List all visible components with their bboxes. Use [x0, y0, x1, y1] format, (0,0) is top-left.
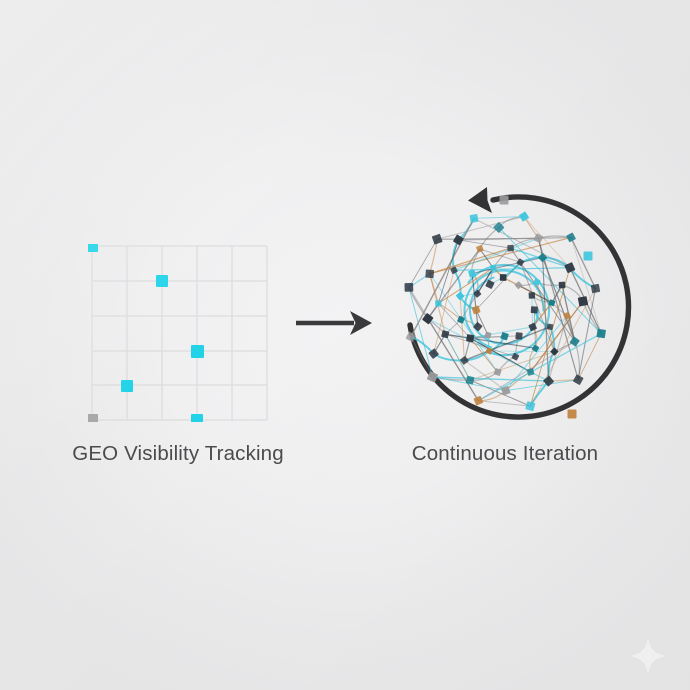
swirl-node[interactable]: [547, 323, 554, 330]
swirl-node[interactable]: [507, 245, 514, 252]
swirl-edge: [437, 217, 524, 240]
swirl-node[interactable]: [515, 332, 522, 339]
swirl-node[interactable]: [456, 292, 465, 301]
swirl-node[interactable]: [435, 300, 442, 307]
grid-marker-c2-r1[interactable]: [156, 275, 168, 287]
arc-path: [410, 197, 629, 417]
grid-marker-top-left[interactable]: [88, 244, 98, 252]
swirl-node[interactable]: [425, 269, 434, 278]
grid-marker-origin-muted[interactable]: [88, 414, 98, 422]
swirl-node[interactable]: [405, 283, 414, 292]
swirl-node[interactable]: [578, 296, 588, 306]
swirl-accent-node[interactable]: [568, 410, 577, 419]
continuous-iteration-swirl: [392, 178, 640, 430]
swirl-node[interactable]: [591, 284, 601, 294]
iteration-arc: [410, 187, 629, 417]
swirl-node[interactable]: [538, 253, 548, 263]
grid-markers: [88, 244, 204, 422]
swirl-node[interactable]: [566, 232, 576, 242]
grid-marker-c3-r3[interactable]: [191, 345, 204, 358]
caption-right: Continuous Iteration: [350, 442, 660, 466]
sparkle-shape: [629, 637, 667, 675]
geo-visibility-grid: [88, 244, 270, 422]
swirl-node[interactable]: [473, 322, 483, 332]
grid-svg: [88, 244, 270, 422]
infographic-canvas: GEO Visibility Tracking Continuous Itera…: [0, 0, 690, 690]
swirl-node[interactable]: [500, 332, 509, 341]
swirl-node[interactable]: [525, 401, 535, 411]
swirl-node[interactable]: [514, 281, 522, 289]
sparkle-icon: [624, 632, 672, 680]
swirl-node[interactable]: [596, 329, 606, 339]
swirl-accent-node[interactable]: [584, 252, 593, 261]
swirl-node[interactable]: [432, 234, 443, 245]
swirl-node[interactable]: [533, 233, 543, 243]
sparkle-watermark: [624, 632, 672, 680]
swirl-node[interactable]: [529, 292, 536, 299]
grid-marker-c1-r4[interactable]: [121, 380, 133, 392]
right-arrow-icon: [292, 300, 376, 346]
grid-marker-c3-r5[interactable]: [191, 414, 203, 422]
swirl-svg: [392, 178, 640, 430]
swirl-accent-node[interactable]: [500, 196, 509, 205]
swirl-network: [405, 196, 607, 419]
caption-left: GEO Visibility Tracking: [18, 442, 338, 466]
swirl-node[interactable]: [569, 336, 579, 346]
swirl-node[interactable]: [559, 282, 566, 289]
swirl-node[interactable]: [470, 214, 479, 223]
swirl-node[interactable]: [531, 306, 538, 313]
swirl-edge: [478, 401, 530, 406]
swirl-node[interactable]: [466, 334, 474, 342]
swirl-node[interactable]: [573, 374, 584, 385]
swirl-node[interactable]: [500, 274, 507, 281]
arc-arrowhead: [468, 187, 492, 213]
flow-arrow: [292, 300, 376, 346]
swirl-node[interactable]: [473, 396, 483, 406]
grid-lines: [92, 246, 267, 420]
